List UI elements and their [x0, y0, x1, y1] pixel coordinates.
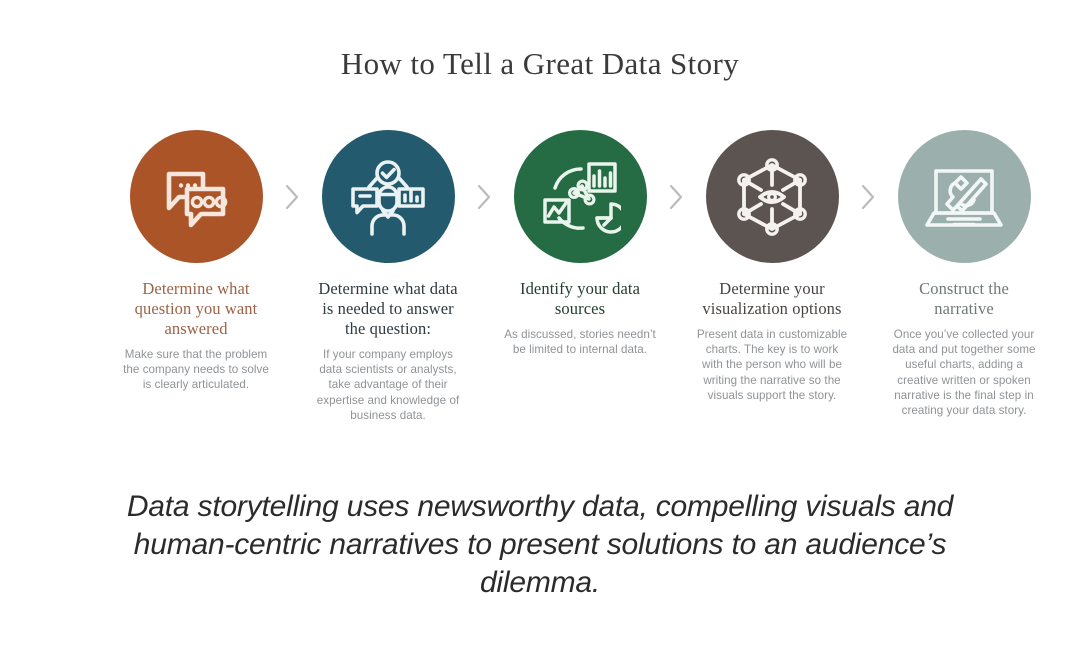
step-2-heading: Determine what data is needed to answer …	[312, 279, 464, 339]
caption-text: Data storytelling uses newsworthy data, …	[110, 488, 970, 602]
step-5: Construct the narrative Once you’ve coll…	[888, 130, 1040, 418]
step-5-circle	[898, 130, 1031, 263]
chevron-right-icon-2	[469, 130, 499, 263]
chevron-right-icon-4	[853, 130, 883, 263]
step-3-body: As discussed, stories needn’t be limited…	[504, 327, 656, 357]
step-4: Determine your visualization options Pre…	[696, 130, 848, 403]
step-1: Determine what question you want answere…	[120, 130, 272, 393]
step-1-body: Make sure that the problem the company n…	[120, 347, 272, 393]
step-2-circle	[322, 130, 455, 263]
step-1-heading: Determine what question you want answere…	[120, 279, 272, 339]
step-4-body: Present data in customizable charts. The…	[696, 327, 848, 403]
speech-bubbles-icon	[157, 158, 235, 236]
step-5-body: Once you’ve collected your data and put …	[888, 327, 1040, 418]
laptop-tools-icon	[922, 155, 1006, 239]
chevron-right-icon-1	[277, 130, 307, 263]
step-4-heading: Determine your visualization options	[696, 279, 848, 319]
chevron-right-icon-3	[661, 130, 691, 263]
page-title: How to Tell a Great Data Story	[0, 46, 1080, 82]
step-3-heading: Identify your data sources	[504, 279, 656, 319]
step-5-heading: Construct the narrative	[888, 279, 1040, 319]
step-2: Determine what data is needed to answer …	[312, 130, 464, 423]
step-2-body: If your company employs data scientists …	[312, 347, 464, 423]
step-3-circle	[514, 130, 647, 263]
step-4-circle	[706, 130, 839, 263]
hexagon-network-eye-icon	[730, 155, 814, 239]
charts-network-icon	[539, 156, 621, 238]
step-3: Identify your data sources As discussed,…	[504, 130, 656, 357]
steps-row: Determine what question you want answere…	[120, 130, 1040, 423]
infographic-slide: How to Tell a Great Data Story	[0, 0, 1080, 654]
step-1-circle	[130, 130, 263, 263]
person-analyst-icon	[347, 156, 429, 238]
